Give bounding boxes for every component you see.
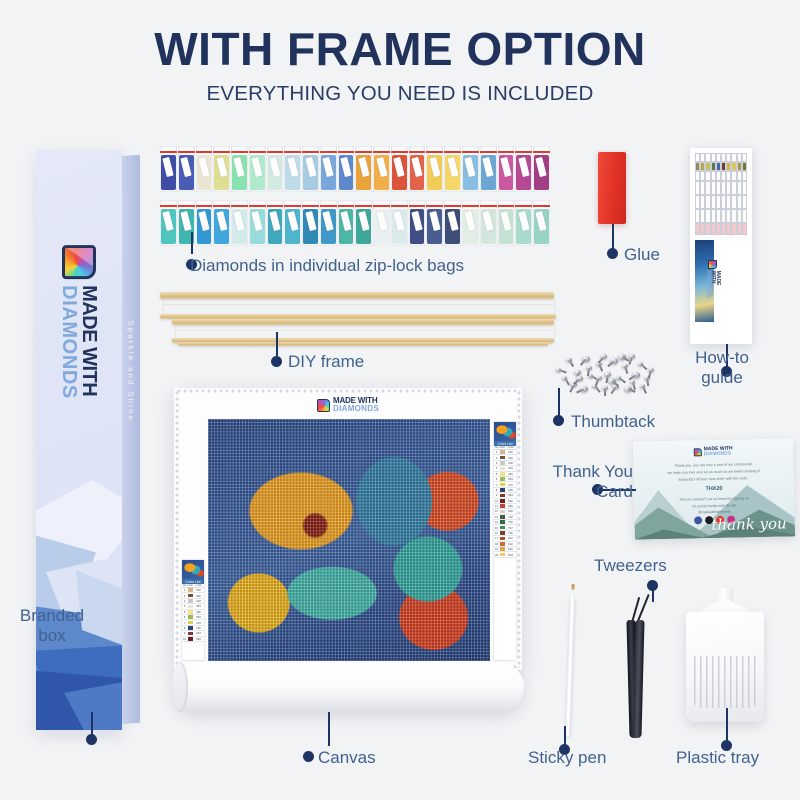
- legend-row-number: 7: [182, 621, 187, 625]
- legend-row-code: 155: [505, 488, 516, 492]
- bag-zip-seal: [498, 151, 515, 153]
- bag-zip-seal: [338, 205, 355, 207]
- legend-row-swatch: [500, 461, 505, 465]
- diamond-bag: [320, 200, 337, 246]
- legend-row-number: 20: [494, 553, 499, 557]
- legend-row-swatch: [188, 621, 193, 625]
- diamond-bag: [462, 200, 479, 246]
- legend-row-code: 632: [193, 588, 204, 592]
- legend-row-number: 9: [494, 493, 499, 497]
- thumbtack-pin: [598, 364, 603, 372]
- callout-leader-pen: [564, 726, 566, 746]
- legend-row: 20834: [494, 552, 516, 557]
- diamond-bag: [338, 146, 355, 192]
- legend-row-swatch: [500, 450, 505, 454]
- legend-row-swatch: [500, 526, 505, 530]
- guide-color-chart: [695, 153, 747, 235]
- legend-row-number: 8: [494, 488, 499, 492]
- brand-word-bottom: DIAMONDS: [704, 452, 733, 458]
- legend-row-swatch: [188, 626, 193, 630]
- guide-chart-cell: [742, 162, 747, 171]
- bag-zip-seal: [178, 151, 195, 153]
- legend-row-code: 653: [193, 615, 204, 619]
- bag-zip-seal: [231, 205, 248, 207]
- diamond-bag: [355, 146, 372, 192]
- thumbtack: [602, 386, 608, 390]
- diamond-bag: [249, 200, 266, 246]
- thumbtack-pin: [580, 359, 586, 366]
- legend-row-number: 8: [182, 626, 187, 630]
- bag-zip-seal: [160, 205, 177, 207]
- guide-chart-row: [695, 171, 747, 181]
- legend-row-number: 3: [494, 461, 499, 465]
- diamond-bag: [213, 200, 230, 246]
- diamond-gem-icon: [694, 448, 702, 456]
- legend-row-number: 17: [494, 536, 499, 540]
- diamond-gem-icon: [317, 399, 330, 412]
- thumbtack-pin: [558, 369, 566, 373]
- guide-chart-row: [695, 223, 747, 235]
- tray-body: [686, 612, 764, 722]
- pen-body: [565, 598, 575, 736]
- diamond-gem-icon: [62, 245, 96, 279]
- thumbtack: [608, 378, 616, 384]
- legend-row-code: 832: [505, 547, 516, 551]
- bag-zip-seal: [213, 205, 230, 207]
- guide-chart-cell: [742, 209, 747, 223]
- legend-row-number: 10: [182, 637, 187, 641]
- callout-leader-branded-box: [91, 712, 93, 736]
- bag-zip-seal: [409, 205, 426, 207]
- bag-zip-seal: [533, 151, 550, 153]
- thumbtack: [648, 368, 654, 372]
- thumbtack: [580, 386, 588, 392]
- legend-row-code: 702: [505, 515, 516, 519]
- thumbtack-pin: [632, 382, 635, 390]
- label-how-to-guide: How-to guide: [672, 348, 772, 388]
- legend-row-code: 747: [505, 526, 516, 530]
- legend-row-code: 612: [505, 542, 516, 546]
- diamond-bag: [533, 200, 550, 246]
- color-list-legend-right: Color ListNoColorCode1632230033184454544…: [494, 422, 516, 660]
- callout-leader-glue: [612, 224, 614, 250]
- canvas-roll: [172, 662, 524, 712]
- thank-you-card: MADE WITH DIAMONDS Thank you, you are no…: [633, 438, 795, 539]
- thumbtack-pin: [642, 386, 646, 394]
- bag-zip-seal: [284, 151, 301, 153]
- callout-dot-glue: [607, 248, 618, 259]
- bag-zip-seal: [426, 205, 443, 207]
- diamond-bag: [462, 146, 479, 192]
- label-canvas: Canvas: [318, 748, 376, 768]
- legend-row-code: 472: [505, 483, 516, 487]
- label-diy-frame: DIY frame: [288, 352, 364, 372]
- diamond-bag: [498, 146, 515, 192]
- legend-row-number: 12: [494, 509, 499, 513]
- bag-zip-seal: [338, 151, 355, 153]
- sticky-pen: [563, 584, 577, 736]
- brand-word-bottom: DIAMONDS: [333, 405, 379, 413]
- diamond-bag: [426, 146, 443, 192]
- callout-dot-frame: [271, 356, 282, 367]
- thumbtack-pin: [594, 385, 600, 392]
- plastic-tray: [686, 588, 764, 722]
- thumbtack-pin: [610, 386, 616, 393]
- bag-zip-seal: [409, 151, 426, 153]
- bag-zip-seal: [178, 205, 195, 207]
- guide-chart-row: [695, 153, 747, 162]
- legend-row-code: 454: [505, 466, 516, 470]
- canvas-logo: MADE WITH DIAMONDS: [317, 397, 379, 413]
- diamond-bag: [426, 200, 443, 246]
- diamond-bag: [178, 146, 195, 192]
- legend-row-code: 543: [193, 631, 204, 635]
- legend-row-code: 922: [505, 536, 516, 540]
- legend-row-swatch: [188, 605, 193, 609]
- legend-row-number: 3: [182, 599, 187, 603]
- diamond-bag-row: [160, 200, 550, 246]
- thumbtack: [638, 362, 643, 366]
- legend-row-swatch: [500, 472, 505, 476]
- diamond-bag: [444, 200, 461, 246]
- legend-row-number: 18: [494, 542, 499, 546]
- thumbtack-pin: [564, 378, 569, 386]
- bag-zip-seal: [160, 151, 177, 153]
- bag-zip-seal: [284, 205, 301, 207]
- diamond-bag: [284, 146, 301, 192]
- guide-chart-cell: [742, 171, 747, 181]
- diamond-bag: [373, 200, 390, 246]
- guide-chart-row: [695, 209, 747, 223]
- legend-row-number: 14: [494, 520, 499, 524]
- how-to-guide: MADE WITH DIAMONDS by diamond painting: [690, 148, 752, 344]
- thumbtack: [604, 372, 611, 377]
- thumbtack: [574, 370, 581, 375]
- callout-leader-thumbtack: [558, 388, 560, 416]
- diamond-bag: [498, 200, 515, 246]
- guide-chart-row: [695, 162, 747, 171]
- thumbtack-pin: [576, 388, 584, 393]
- diamond-bag: [249, 146, 266, 192]
- canvas-perforation: [176, 389, 520, 393]
- legend-row-number: 5: [182, 610, 187, 614]
- bag-zip-seal: [302, 151, 319, 153]
- legend-row-code: 646: [505, 504, 516, 508]
- legend-row-swatch: [500, 477, 505, 481]
- legend-row-code: 300: [505, 456, 516, 460]
- thumbtack: [618, 354, 626, 360]
- guide-chart-cell: [742, 195, 747, 209]
- facebook-icon: [694, 516, 702, 524]
- thumbtack: [624, 386, 632, 392]
- brand-wordmark: MADE WITH DIAMONDS: [59, 285, 99, 399]
- bag-zip-seal: [249, 151, 266, 153]
- thumbtack: [616, 376, 621, 380]
- legend-row-swatch: [500, 531, 505, 535]
- legend-row-code: 472: [193, 621, 204, 625]
- legend-thumbnail: [494, 422, 516, 441]
- guide-subtext: by diamond painting: [710, 264, 714, 296]
- legend-row-swatch: [188, 594, 193, 598]
- bag-zip-seal: [498, 205, 515, 207]
- legend-row-number: 16: [494, 531, 499, 535]
- thumbtack: [562, 376, 567, 380]
- legend-row-swatch: [500, 515, 505, 519]
- thumbtack-pin: [624, 366, 628, 374]
- legend-row: 10550: [182, 637, 204, 642]
- label-plastic-tray: Plastic tray: [676, 748, 759, 768]
- thank-you-script: thank you: [711, 518, 787, 532]
- label-tweezers: Tweezers: [594, 556, 667, 576]
- legend-row-swatch: [188, 637, 193, 641]
- bag-zip-seal: [480, 151, 497, 153]
- tweezer-arm: [632, 620, 644, 738]
- bag-zip-seal: [355, 205, 372, 207]
- bag-zip-seal: [391, 151, 408, 153]
- bag-zip-seal: [480, 205, 497, 207]
- bag-zip-seal: [355, 151, 372, 153]
- bag-zip-seal: [373, 151, 390, 153]
- legend-row-number: 6: [182, 615, 187, 619]
- bag-zip-seal: [196, 205, 213, 207]
- legend-row-number: 9: [182, 631, 187, 635]
- legend-row-number: 15: [494, 526, 499, 530]
- brand-word-bottom: DIAMONDS: [59, 285, 79, 399]
- bag-zip-seal: [462, 205, 479, 207]
- glue-block: [598, 152, 626, 224]
- canvas-perforation: [517, 390, 521, 668]
- bag-zip-seal: [196, 151, 213, 153]
- label-thumbtack: Thumbtack: [571, 412, 655, 432]
- legend-row-number: 4: [182, 604, 187, 608]
- infographic-root: WITH FRAME OPTION EVERYTHING YOU NEED IS…: [0, 0, 800, 800]
- diamond-bag: [160, 146, 177, 192]
- legend-row-number: 6: [494, 477, 499, 481]
- diamond-bag: [160, 200, 177, 246]
- callout-leader-bags: [191, 232, 193, 254]
- thumbtack-pin: [604, 388, 606, 396]
- diamond-bag: [320, 146, 337, 192]
- legend-row-code: 454: [193, 604, 204, 608]
- diamond-bag: [533, 146, 550, 192]
- diamond-bag: [302, 200, 319, 246]
- diamond-bag: [444, 146, 461, 192]
- thumbtack: [600, 354, 607, 359]
- diamond-bag: [338, 200, 355, 246]
- bag-zip-seal: [426, 151, 443, 153]
- legend-row-code: 834: [505, 553, 516, 557]
- legend-row-swatch: [188, 632, 193, 636]
- callout-dot-tweezers: [647, 580, 658, 591]
- thumbtack: [628, 354, 635, 359]
- legend-thumbnail: [182, 560, 204, 579]
- diamond-bag: [267, 200, 284, 246]
- legend-row-code: 543: [505, 493, 516, 497]
- legend-row-swatch: [500, 456, 505, 460]
- bag-zip-seal: [249, 205, 266, 207]
- thumbtack: [576, 376, 583, 381]
- guide-chart-row: [695, 181, 747, 195]
- legend-row-swatch: [500, 467, 505, 471]
- color-list-legend-left: Color ListNoColorCode1632230033184454544…: [182, 560, 204, 660]
- bag-zip-seal: [302, 205, 319, 207]
- legend-row-swatch: [500, 510, 505, 514]
- diamond-art-mosaic: [208, 419, 490, 661]
- diamond-bag: [391, 146, 408, 192]
- callout-leader-canvas: [328, 712, 330, 746]
- legend-row-number: 1: [494, 450, 499, 454]
- page-subtitle: EVERYTHING YOU NEED IS INCLUDED: [0, 82, 800, 106]
- legend-row-number: 4: [494, 466, 499, 470]
- legend-row-code: 550: [193, 637, 204, 641]
- thumbtack-pin: [569, 384, 574, 392]
- legend-row-number: 19: [494, 547, 499, 551]
- guide-chart-cell: [742, 153, 747, 162]
- diamond-bag: [267, 146, 284, 192]
- label-thank-you-card: Thank You Card: [537, 462, 633, 502]
- bag-zip-seal: [373, 205, 390, 207]
- legend-row-number: 13: [494, 515, 499, 519]
- legend-row-number: 1: [182, 588, 187, 592]
- thank-you-card-logo: MADE WITH DIAMONDS: [694, 447, 733, 458]
- legend-row-number: 7: [494, 483, 499, 487]
- legend-row-number: 10: [494, 499, 499, 503]
- bag-zip-seal: [391, 205, 408, 207]
- thumbtack-pile: [552, 352, 662, 400]
- legend-row-number: 5: [494, 472, 499, 476]
- canvas-painting: MADE WITH DIAMONDS Color ListNoColorCode…: [174, 388, 522, 670]
- thumbtack: [640, 384, 645, 388]
- legend-header-cell: Code: [505, 446, 516, 449]
- guide-chart-cell: [742, 223, 747, 235]
- legend-row-code: 648: [505, 509, 516, 513]
- diamond-bag: [231, 146, 248, 192]
- diamond-bag: [409, 146, 426, 192]
- legend-row-swatch: [188, 588, 193, 592]
- legend-row-swatch: [500, 520, 505, 524]
- legend-row-code: 632: [505, 450, 516, 454]
- legend-row-code: 318: [505, 461, 516, 465]
- legend-row-swatch: [500, 499, 505, 503]
- legend-row-code: 318: [193, 599, 204, 603]
- legend-row-swatch: [188, 599, 193, 603]
- legend-row-code: 155: [193, 626, 204, 630]
- thumbtack-pin: [568, 360, 574, 368]
- thumbtack: [630, 380, 635, 384]
- thumbtack-pin: [607, 361, 614, 367]
- legend-row-code: 702: [505, 520, 516, 524]
- tray-ribs: [694, 656, 756, 708]
- thumbtack: [632, 372, 640, 378]
- diamond-bag: [231, 200, 248, 246]
- bag-zip-seal: [444, 205, 461, 207]
- thank-you-card-code: THX20: [634, 484, 794, 493]
- legend-row-swatch: [500, 494, 505, 498]
- bag-zip-seal: [231, 151, 248, 153]
- bag-zip-seal: [515, 151, 532, 153]
- branded-box-side-panel: Sparkle and Shine: [122, 155, 140, 724]
- diamond-bag-row: [160, 146, 550, 192]
- callout-leader-tray: [726, 708, 728, 742]
- callout-leader-frame: [276, 332, 278, 356]
- diy-frame-group: [158, 292, 558, 350]
- diamond-bag: [355, 200, 372, 246]
- diamond-bag: [515, 146, 532, 192]
- bag-zip-seal: [267, 151, 284, 153]
- diamond-bag: [196, 146, 213, 192]
- thumbtack: [596, 376, 602, 380]
- diamond-bag: [515, 200, 532, 246]
- branded-box-logo: MADE WITH DIAMONDS: [59, 245, 99, 399]
- legend-row-number: 2: [182, 594, 187, 598]
- legend-row-swatch: [188, 610, 193, 614]
- diamond-bag: [373, 146, 390, 192]
- label-glue: Glue: [624, 245, 660, 265]
- bag-zip-seal: [213, 151, 230, 153]
- thumbtack-pin: [618, 377, 625, 383]
- guide-chart-row: [695, 195, 747, 209]
- thumbtack: [566, 358, 572, 362]
- diamond-bag: [213, 146, 230, 192]
- legend-row-swatch: [500, 483, 505, 487]
- thumbtack: [582, 356, 590, 362]
- legend-row-code: 653: [505, 477, 516, 481]
- legend-row-code: 760: [505, 531, 516, 535]
- thumbtack: [622, 364, 628, 368]
- legend-row-swatch: [500, 547, 505, 551]
- diamond-bag: [480, 200, 497, 246]
- thumbtack: [610, 358, 618, 364]
- diamond-bag: [196, 200, 213, 246]
- callout-dot-thumbtack: [553, 415, 564, 426]
- legend-row-number: 2: [494, 456, 499, 460]
- legend-row-code: 550: [505, 499, 516, 503]
- diamond-bag: [284, 200, 301, 246]
- legend-row-number: 11: [494, 504, 499, 508]
- label-diamond-bags: Diamonds in individual zip-lock bags: [190, 256, 464, 276]
- legend-row-swatch: [188, 615, 193, 619]
- thumbtack-pin: [646, 378, 649, 386]
- label-sticky-pen: Sticky pen: [528, 748, 606, 768]
- diamond-bag: [480, 146, 497, 192]
- legend-row-code: 300: [193, 594, 204, 598]
- legend-row-code: 445: [505, 472, 516, 476]
- legend-row-swatch: [500, 504, 505, 508]
- callout-dot-canvas: [303, 751, 314, 762]
- legend-header-cell: Code: [193, 584, 204, 587]
- legend-row-swatch: [500, 488, 505, 492]
- bag-zip-seal: [320, 151, 337, 153]
- thumbtack: [556, 368, 561, 372]
- diamond-bag: [302, 146, 319, 192]
- label-branded-box: Branded box: [0, 606, 112, 646]
- brand-word-top: MADE WITH: [79, 285, 99, 399]
- legend-row-swatch: [500, 537, 505, 541]
- legend-row-code: 445: [193, 610, 204, 614]
- page-title: WITH FRAME OPTION: [0, 22, 800, 76]
- bag-zip-seal: [515, 205, 532, 207]
- tweezers: [622, 576, 654, 738]
- bag-zip-seal: [320, 205, 337, 207]
- canvas-perforation: [175, 390, 179, 668]
- thumbtack-pin: [595, 378, 600, 386]
- diamond-bags-group: [160, 146, 550, 250]
- legend-row-swatch: [500, 542, 505, 546]
- bag-zip-seal: [533, 205, 550, 207]
- thumbtack-pin: [640, 363, 647, 370]
- brand-tagline: Sparkle and Shine: [127, 320, 136, 423]
- diamond-bag: [409, 200, 426, 246]
